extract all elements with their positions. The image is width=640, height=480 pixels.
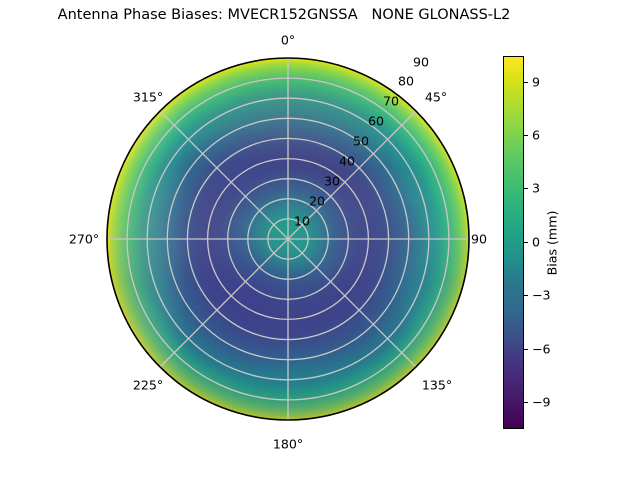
angular-tick-270: 270° (69, 232, 99, 247)
angular-tick-180: 180° (273, 437, 303, 452)
radial-tick-50: 50 (353, 134, 369, 149)
colorbar-ticklabel-6: 6 (532, 128, 540, 143)
angular-tick-135: 135° (422, 378, 452, 393)
colorbar-ticklabel-9: 9 (532, 75, 540, 90)
angular-gridlines (107, 58, 469, 420)
angular-tick-0: 0° (281, 33, 295, 48)
colorbar-tickmark-6 (524, 135, 528, 136)
polar-axes: 10 20 30 40 50 60 70 80 90 (106, 57, 470, 421)
radial-tick-60: 60 (368, 114, 384, 129)
polar-plot-canvas (106, 57, 470, 421)
colorbar-axis-label: Bias (mm) (545, 211, 560, 276)
radial-tick-10: 10 (294, 214, 310, 229)
colorbar-gradient (503, 56, 524, 429)
colorbar-tickmark-neg3 (524, 295, 528, 296)
radial-tick-80: 80 (398, 74, 414, 89)
colorbar-ticklabel-0: 0 (532, 235, 540, 250)
colorbar: 9 6 3 0 −3 −6 −9 (503, 56, 524, 429)
radial-tick-90: 90 (413, 55, 429, 70)
angular-tick-225: 225° (133, 378, 163, 393)
radial-tick-20: 20 (309, 194, 325, 209)
colorbar-ticklabel-3: 3 (532, 181, 540, 196)
colorbar-ticklabel-neg6: −6 (532, 342, 551, 357)
colorbar-ticklabel-neg9: −9 (532, 395, 551, 410)
angular-tick-90: 90 (471, 232, 487, 247)
colorbar-tickmark-neg6 (524, 349, 528, 350)
colorbar-tickmark-0 (524, 242, 528, 243)
colorbar-tickmark-neg9 (524, 402, 528, 403)
radial-tick-70: 70 (383, 94, 399, 109)
colorbar-tickmark-9 (524, 82, 528, 83)
colorbar-tickmark-3 (524, 188, 528, 189)
radial-tick-30: 30 (324, 174, 340, 189)
angular-tick-45: 45° (425, 90, 447, 105)
page-title: Antenna Phase Biases: MVECR152GNSSA NONE… (0, 7, 568, 23)
radial-tick-40: 40 (339, 154, 355, 169)
angular-tick-315: 315° (133, 90, 163, 105)
colorbar-ticklabel-neg3: −3 (532, 288, 551, 303)
polar-chart-figure: Antenna Phase Biases: MVECR152GNSSA NONE… (0, 0, 640, 480)
